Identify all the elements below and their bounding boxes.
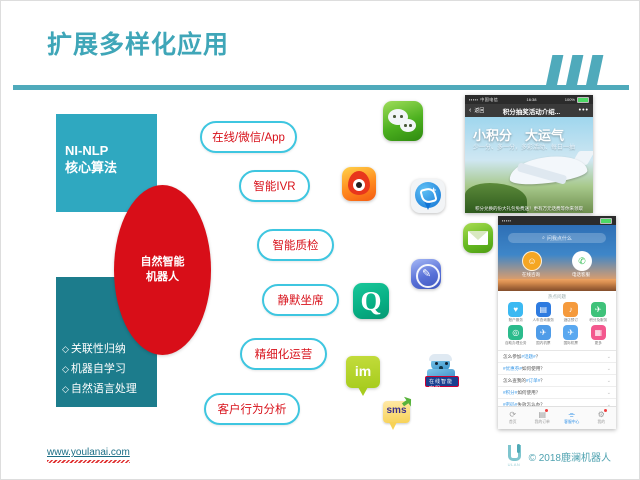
wechat-icon[interactable] (383, 101, 423, 141)
faq-question: 怎么参加#话题#？ (503, 354, 540, 360)
quick-action-chat-label: 在线咨询 (511, 272, 551, 278)
sms-icon[interactable]: sms (383, 401, 410, 423)
tab-label: 我的 (597, 420, 605, 425)
service-grid-item[interactable]: ▤人车查询服务 (530, 302, 558, 323)
app-store-icon[interactable]: ✎ (411, 259, 441, 289)
phone1-nav-title: 积分抽奖活动介绍... (487, 106, 575, 116)
core-robot-ellipse: 自然智能 机器人 (114, 185, 211, 355)
core-label-line2: 机器人 (141, 270, 185, 285)
service-grid-icon: ◎ (508, 325, 523, 340)
service-grid-label: 国内机票 (536, 341, 550, 346)
sms-label: sms (383, 405, 410, 416)
phone1-time: 16:38 (526, 97, 536, 102)
tab-label: 首页 (509, 420, 517, 425)
phone-icon: ✆ (578, 256, 586, 267)
tab-label: 客服中心 (564, 420, 579, 425)
tab-settings[interactable]: ⚙我的 (587, 407, 617, 429)
application-pill-label: 智能质检 (273, 237, 319, 253)
service-grid-label: 积分及服务 (589, 318, 607, 323)
application-pill[interactable]: 精细化运营 (240, 338, 327, 370)
diamond-bullet-icon: ◇ (62, 359, 69, 379)
service-grid-label: 酒店预订 (564, 318, 578, 323)
service-grid-label: 自助办理业务 (505, 341, 527, 346)
header-divider (13, 85, 629, 90)
faq-row[interactable]: 怎么参加#话题#？⌄ (498, 351, 616, 363)
chevron-down-icon[interactable]: ⌄ (607, 390, 611, 396)
phone2-hero-banner: ⌕ 问我点什么 ☺ ✆ 在线咨询 电话客服 (498, 225, 616, 291)
phone2-status-bar: ▪▪▪▪▪ (498, 216, 616, 225)
service-grid-item[interactable]: ♥账户服务 (502, 302, 530, 323)
capability-item: ◇机器自学习 (62, 359, 137, 379)
service-grid-label: 更多 (595, 341, 602, 346)
notification-badge (604, 409, 607, 412)
service-grid-item[interactable]: ◎自助办理业务 (502, 325, 530, 346)
application-pill-label: 客户行为分析 (218, 401, 287, 417)
footer-brand: ULAN © 2018鹿澜机器人 (508, 445, 611, 467)
phone1-hero-banner: 小积分 大运气 少一分、多一分，多彩活动、每日一抽 积分兑换的份大礼包免费送！更… (465, 117, 593, 213)
orders-icon: ▤ (538, 411, 546, 419)
faq-tag: #订单# (526, 378, 540, 383)
tab-headset[interactable]: ⌯客服中心 (557, 407, 587, 429)
faq-question: #积分#如何使用？ (503, 390, 540, 396)
logo-wordmark: ULAN (508, 462, 521, 467)
phone1-subline: 少一分、多一分，多彩活动、每日一抽 (473, 142, 575, 151)
application-pill-label: 在线/微信/App (212, 129, 285, 145)
phone1-caption: 积分兑换的份大礼包免费送！更有万元话费等你来领取 (469, 206, 589, 212)
service-grid-icon: ✈ (563, 325, 578, 340)
phone-screenshot-service-center: ▪▪▪▪▪ ⌕ 问我点什么 ☺ ✆ 在线咨询 电话客服 热点问题 ♥账户服务▤人… (498, 216, 616, 429)
robot-icon[interactable]: 在线智能客服 (424, 354, 458, 386)
service-grid-icon: ♥ (508, 302, 523, 317)
home-icon: ⟳ (509, 411, 516, 419)
tab-label: 我的订单 (535, 420, 550, 425)
phone-call-icon[interactable]: + (411, 179, 445, 213)
service-grid-icon: ✈ (591, 302, 606, 317)
robot-board-label: 在线智能客服 (429, 378, 458, 392)
weibo-icon[interactable] (342, 167, 376, 201)
faq-question: 怎么查我的#订单#？ (503, 378, 545, 384)
settings-icon: ⚙ (598, 411, 605, 419)
header-stripes-decoration (549, 55, 611, 87)
service-grid-label: 人车查询服务 (532, 318, 554, 323)
tab-home[interactable]: ⟳首页 (498, 407, 528, 429)
phone2-search-input[interactable]: ⌕ 问我点什么 (508, 233, 606, 243)
faq-question: #优惠券#如何使用？ (503, 366, 545, 372)
chevron-down-icon[interactable]: ⌄ (607, 354, 611, 360)
service-grid-item[interactable]: ✈积分及服务 (585, 302, 613, 323)
phone1-battery-pct: 100% (565, 97, 575, 102)
faq-tag: #积分# (503, 390, 517, 395)
application-pill[interactable]: 客户行为分析 (204, 393, 300, 425)
copyright-text: © 2018鹿澜机器人 (529, 449, 611, 464)
nlp-title-line1: NI-NLP (65, 142, 117, 159)
phone1-nav-bar: ‹ 返回 积分抽奖活动介绍... ••• (465, 104, 593, 117)
capability-item: ◇自然语言处理 (62, 379, 137, 399)
diamond-bullet-icon: ◇ (62, 379, 69, 399)
application-pill[interactable]: 静默坐席 (262, 284, 339, 316)
capability-item-label: 机器自学习 (71, 363, 126, 375)
spellcheck-underline (47, 460, 130, 463)
capability-item-label: 自然语言处理 (71, 383, 137, 395)
service-grid-icon: ▦ (591, 325, 606, 340)
chat-icon: ☺ (527, 256, 536, 266)
diamond-bullet-icon: ◇ (62, 339, 69, 359)
capability-item: ◇关联性归纳 (62, 339, 137, 359)
nlp-title-line2: 核心算法 (65, 159, 117, 176)
page-title: 扩展多样化应用 (47, 25, 229, 61)
faq-row[interactable]: #优惠券#如何使用？⌄ (498, 363, 616, 375)
service-grid-label: 账户服务 (509, 318, 523, 323)
chevron-down-icon[interactable]: ⌄ (607, 378, 611, 384)
service-grid-label: 国际机票 (564, 341, 578, 346)
core-label-line1: 自然智能 (141, 255, 185, 270)
chevron-down-icon[interactable]: ⌄ (607, 366, 611, 372)
slide-canvas: 扩展多样化应用 NI-NLP 核心算法 ◇关联性归纳◇机器自学习◇自然语言处理 … (0, 0, 640, 480)
capability-item-label: 关联性归纳 (71, 343, 126, 355)
service-grid-icon: ▤ (536, 302, 551, 317)
phone2-service-grid: ♥账户服务▤人车查询服务♪酒店预订✈积分及服务◎自助办理业务✈国内机票✈国际机票… (498, 301, 616, 350)
website-url[interactable]: www.youlanai.com (47, 447, 130, 458)
application-pill[interactable]: 在线/微信/App (200, 121, 297, 153)
service-grid-icon: ♪ (563, 302, 578, 317)
faq-tag: #优惠券# (503, 366, 522, 371)
website-url-text: www.youlanai.com (47, 447, 130, 458)
quick-action-chat-button[interactable]: ☺ (522, 251, 542, 271)
service-grid-item[interactable]: ▦更多 (585, 325, 613, 346)
phone-screenshot-promotion: ▪▪▪▪▪ 中国电信 16:38 100% ‹ 返回 积分抽奖活动介绍... •… (465, 95, 593, 213)
im-icon[interactable]: im (346, 356, 380, 388)
phone1-status-bar: ▪▪▪▪▪ 中国电信 16:38 100% (465, 95, 593, 104)
phone2-search-placeholder: 问我点什么 (547, 235, 572, 242)
faq-row[interactable]: #积分#如何使用？⌄ (498, 387, 616, 399)
service-grid-item[interactable]: ♪酒店预订 (557, 302, 585, 323)
faq-tag: #话题# (521, 354, 535, 359)
headset-icon: ⌯ (569, 411, 575, 419)
phone2-tab-bar: ⟳首页▤我的订单⌯客服中心⚙我的 (498, 406, 616, 429)
quick-action-phone-label: 电话客服 (561, 272, 601, 278)
application-pill[interactable]: 智能质检 (257, 229, 334, 261)
service-grid-item[interactable]: ✈国际机票 (557, 325, 585, 346)
faq-row[interactable]: 怎么查我的#订单#？⌄ (498, 375, 616, 387)
phone2-section-title: 热点问题 (498, 291, 616, 301)
application-pill-label: 静默坐席 (278, 292, 324, 308)
im-label: im (346, 363, 380, 379)
phone1-back-label[interactable]: 返回 (474, 107, 484, 114)
more-options-icon[interactable]: ••• (579, 107, 589, 114)
ulan-logo-icon: ULAN (508, 445, 524, 467)
search-icon: ⌕ (542, 235, 545, 241)
tab-orders[interactable]: ▤我的订单 (528, 407, 558, 429)
back-icon[interactable]: ‹ (469, 107, 471, 114)
application-pill-label: 精细化运营 (255, 346, 313, 362)
application-pill[interactable]: 智能IVR (239, 170, 310, 202)
service-grid-item[interactable]: ✈国内机票 (530, 325, 558, 346)
mail-icon[interactable] (463, 223, 493, 253)
phone1-carrier: 中国电信 (480, 97, 498, 102)
notification-badge (545, 409, 548, 412)
service-grid-icon: ✈ (536, 325, 551, 340)
application-pill-label: 智能IVR (253, 178, 295, 194)
quick-action-phone-button[interactable]: ✆ (572, 251, 592, 271)
qq-icon[interactable]: Q (353, 283, 389, 319)
